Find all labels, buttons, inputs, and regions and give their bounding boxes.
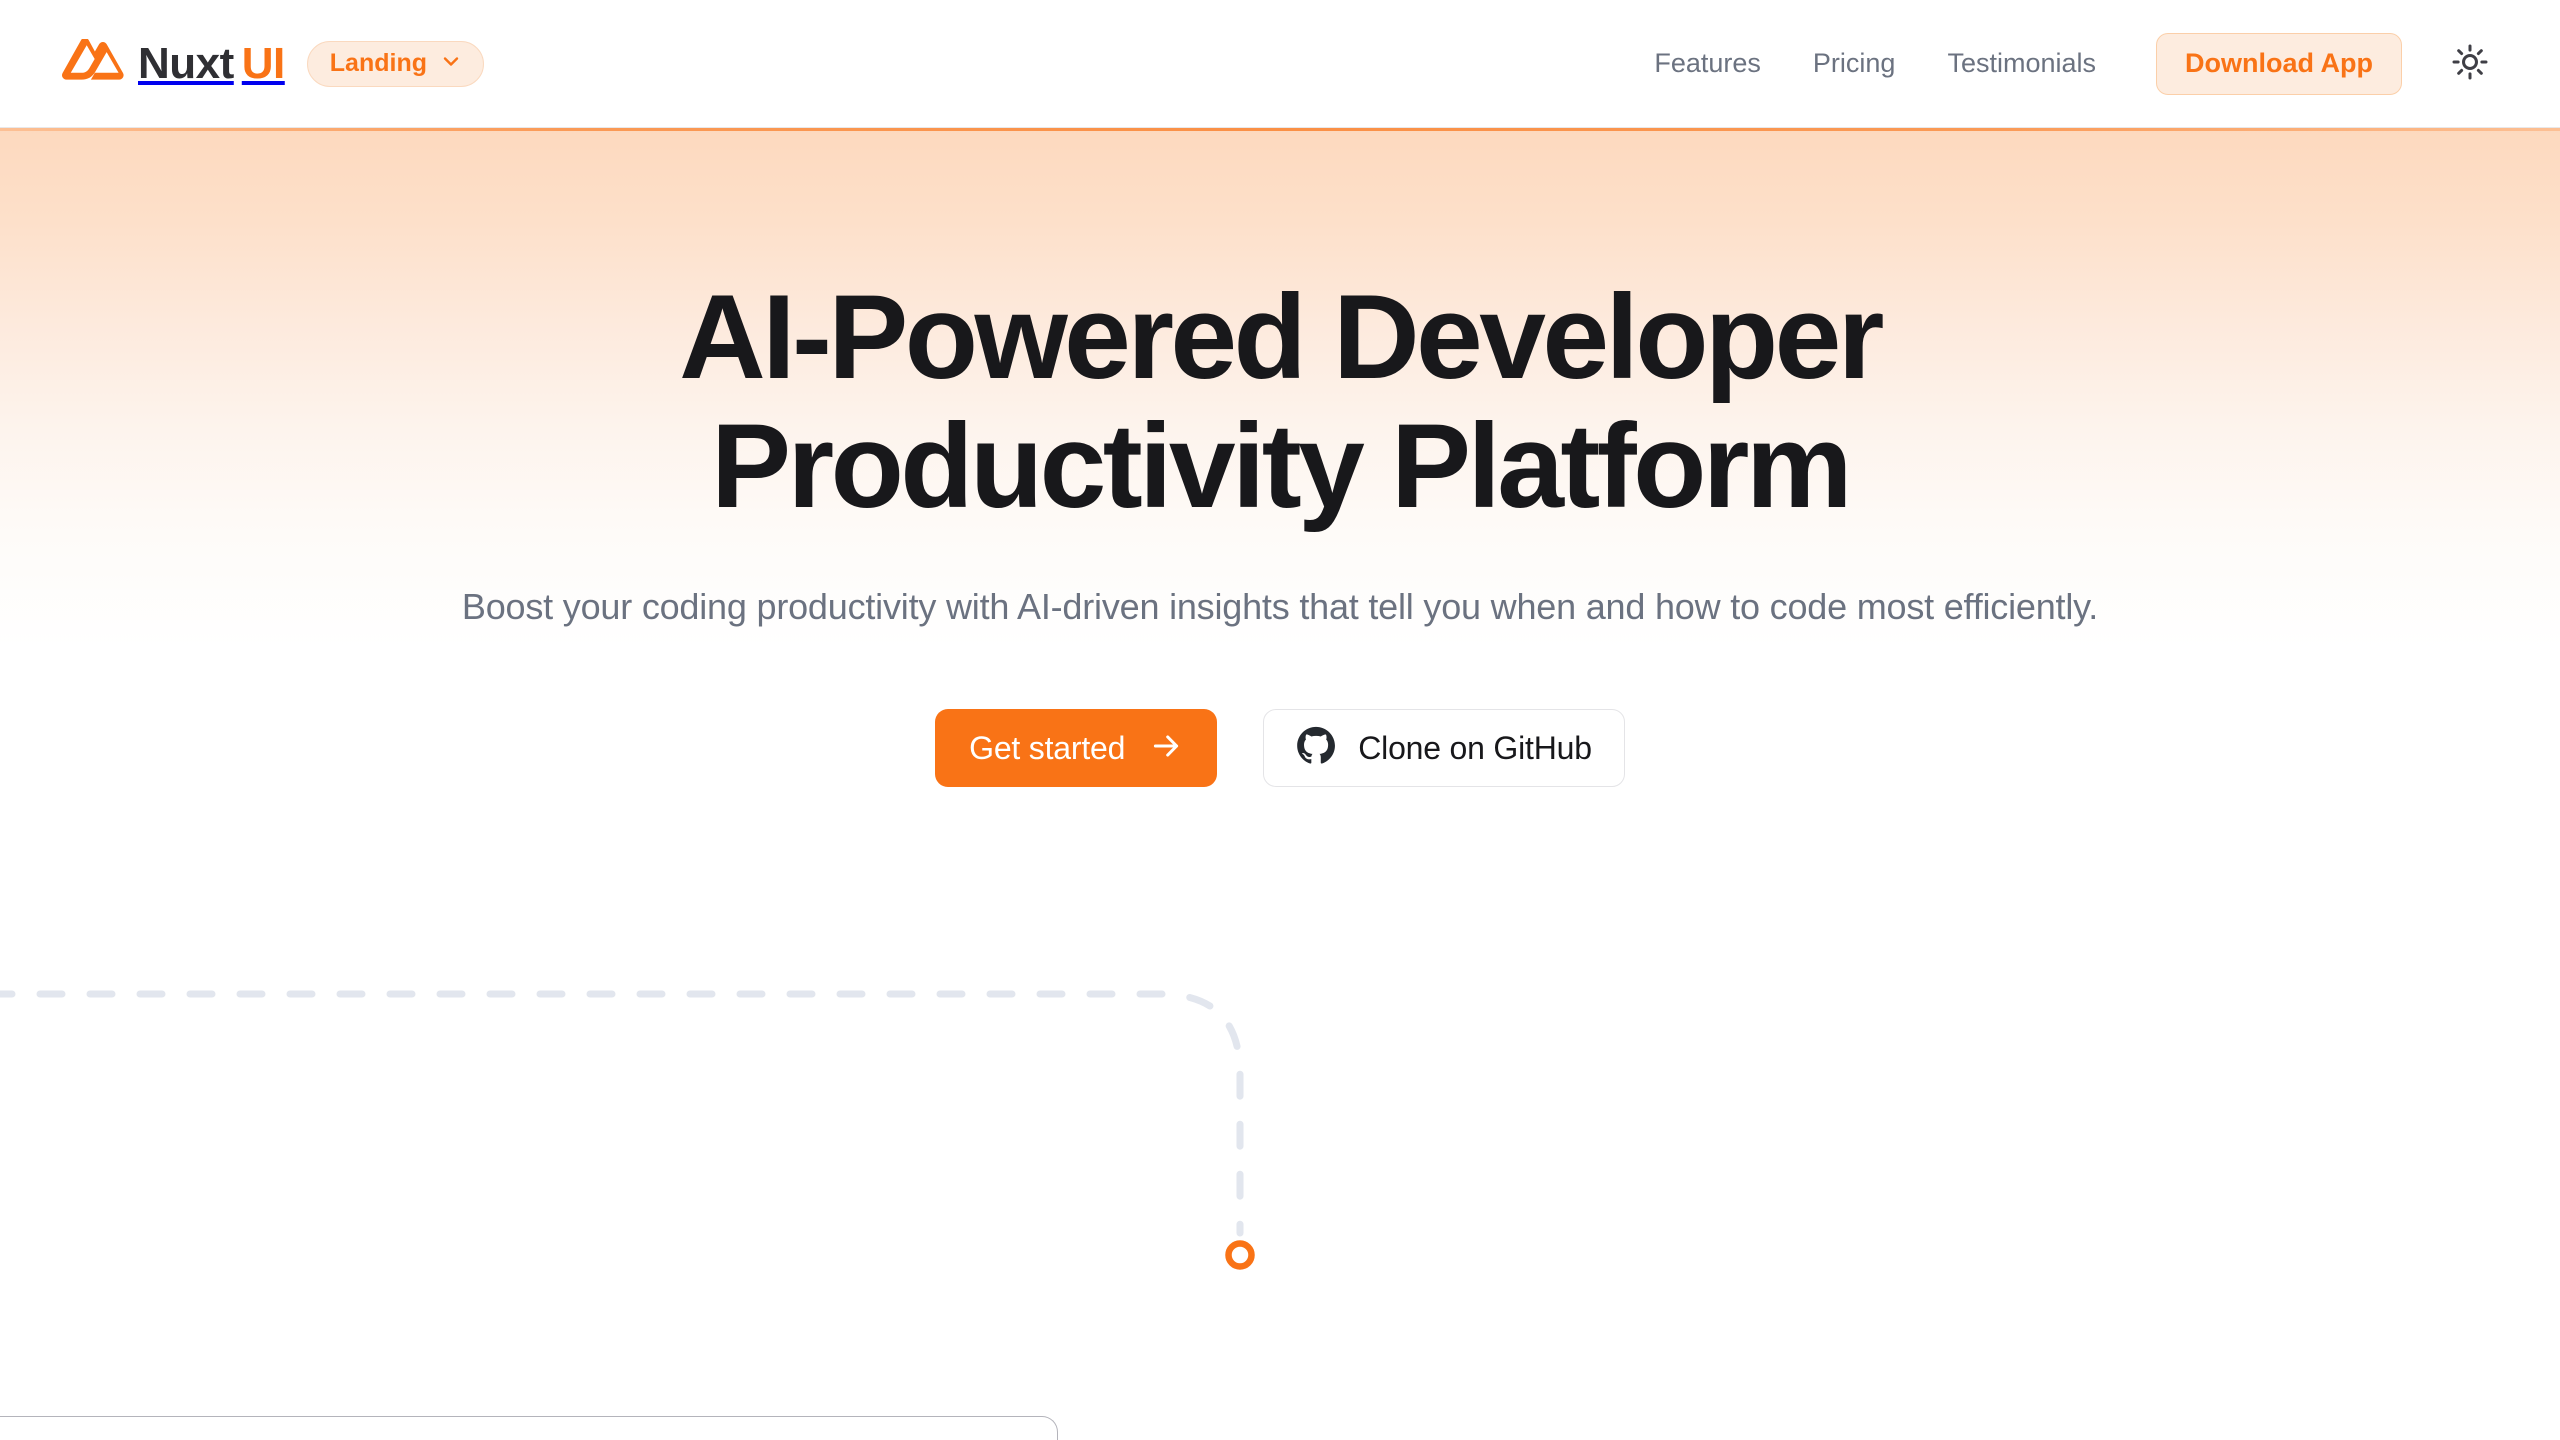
nav-link-testimonials[interactable]: Testimonials bbox=[1921, 50, 2122, 77]
arrow-right-icon bbox=[1149, 729, 1183, 768]
github-icon bbox=[1296, 726, 1336, 771]
brand-word-ui: UI bbox=[242, 39, 285, 88]
get-started-button[interactable]: Get started bbox=[935, 709, 1217, 787]
nuxt-mountain-logo-icon bbox=[62, 39, 124, 88]
hero-cta-group: Get started Clone on GitHub bbox=[0, 709, 2560, 787]
hero-title-line-1: AI-Powered Developer bbox=[679, 270, 1881, 404]
clone-on-github-button[interactable]: Clone on GitHub bbox=[1263, 709, 1625, 787]
landing-dropdown-label: Landing bbox=[330, 51, 427, 76]
hero-title-line-2: Productivity Platform bbox=[711, 399, 1849, 533]
nav-link-pricing[interactable]: Pricing bbox=[1787, 50, 1922, 77]
hero-content: AI-Powered Developer Productivity Platfo… bbox=[0, 128, 2560, 787]
get-started-label: Get started bbox=[969, 732, 1125, 764]
connector-path bbox=[0, 994, 1240, 1233]
brand-home-link[interactable]: NuxtUI bbox=[62, 39, 285, 88]
chevron-down-icon bbox=[439, 49, 463, 78]
nav-link-features[interactable]: Features bbox=[1628, 50, 1787, 77]
circle-endpoint-icon bbox=[1229, 1244, 1252, 1267]
landing-dropdown[interactable]: Landing bbox=[307, 41, 484, 87]
download-app-button[interactable]: Download App bbox=[2156, 33, 2402, 95]
primary-navigation: Features Pricing Testimonials Download A… bbox=[1628, 0, 2498, 127]
page-title: AI-Powered Developer Productivity Platfo… bbox=[450, 273, 2110, 531]
site-header: NuxtUI Landing Features Pricing Testimon… bbox=[0, 0, 2560, 128]
feature-card-top-edge bbox=[0, 1416, 1058, 1440]
hero-subtitle: Boost your coding productivity with AI-d… bbox=[280, 581, 2280, 633]
hero-section: AI-Powered Developer Productivity Platfo… bbox=[0, 128, 2560, 1440]
clone-on-github-label: Clone on GitHub bbox=[1358, 732, 1592, 764]
brand-wordmark: NuxtUI bbox=[138, 42, 285, 86]
theme-toggle-button[interactable] bbox=[2442, 36, 2498, 92]
brand: NuxtUI Landing bbox=[62, 0, 484, 127]
sun-icon bbox=[2451, 43, 2489, 84]
brand-word-nuxt: Nuxt bbox=[138, 39, 234, 88]
